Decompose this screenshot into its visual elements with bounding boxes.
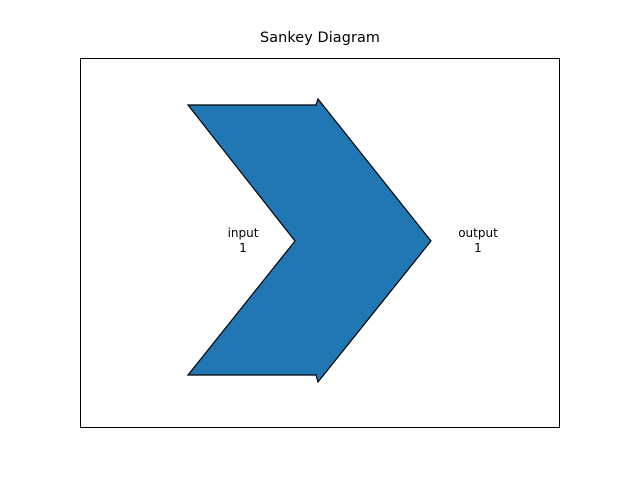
flow-label-input: input 1 <box>213 226 273 256</box>
flow-label-output: output 1 <box>448 226 508 256</box>
flow-label-output-value: 1 <box>448 241 508 256</box>
flow-label-input-name: input <box>213 226 273 241</box>
flow-label-input-value: 1 <box>213 241 273 256</box>
flow-label-output-name: output <box>448 226 508 241</box>
sankey-diagram-canvas <box>0 0 640 480</box>
sankey-figure: Sankey Diagram input 1 output 1 <box>0 0 640 480</box>
